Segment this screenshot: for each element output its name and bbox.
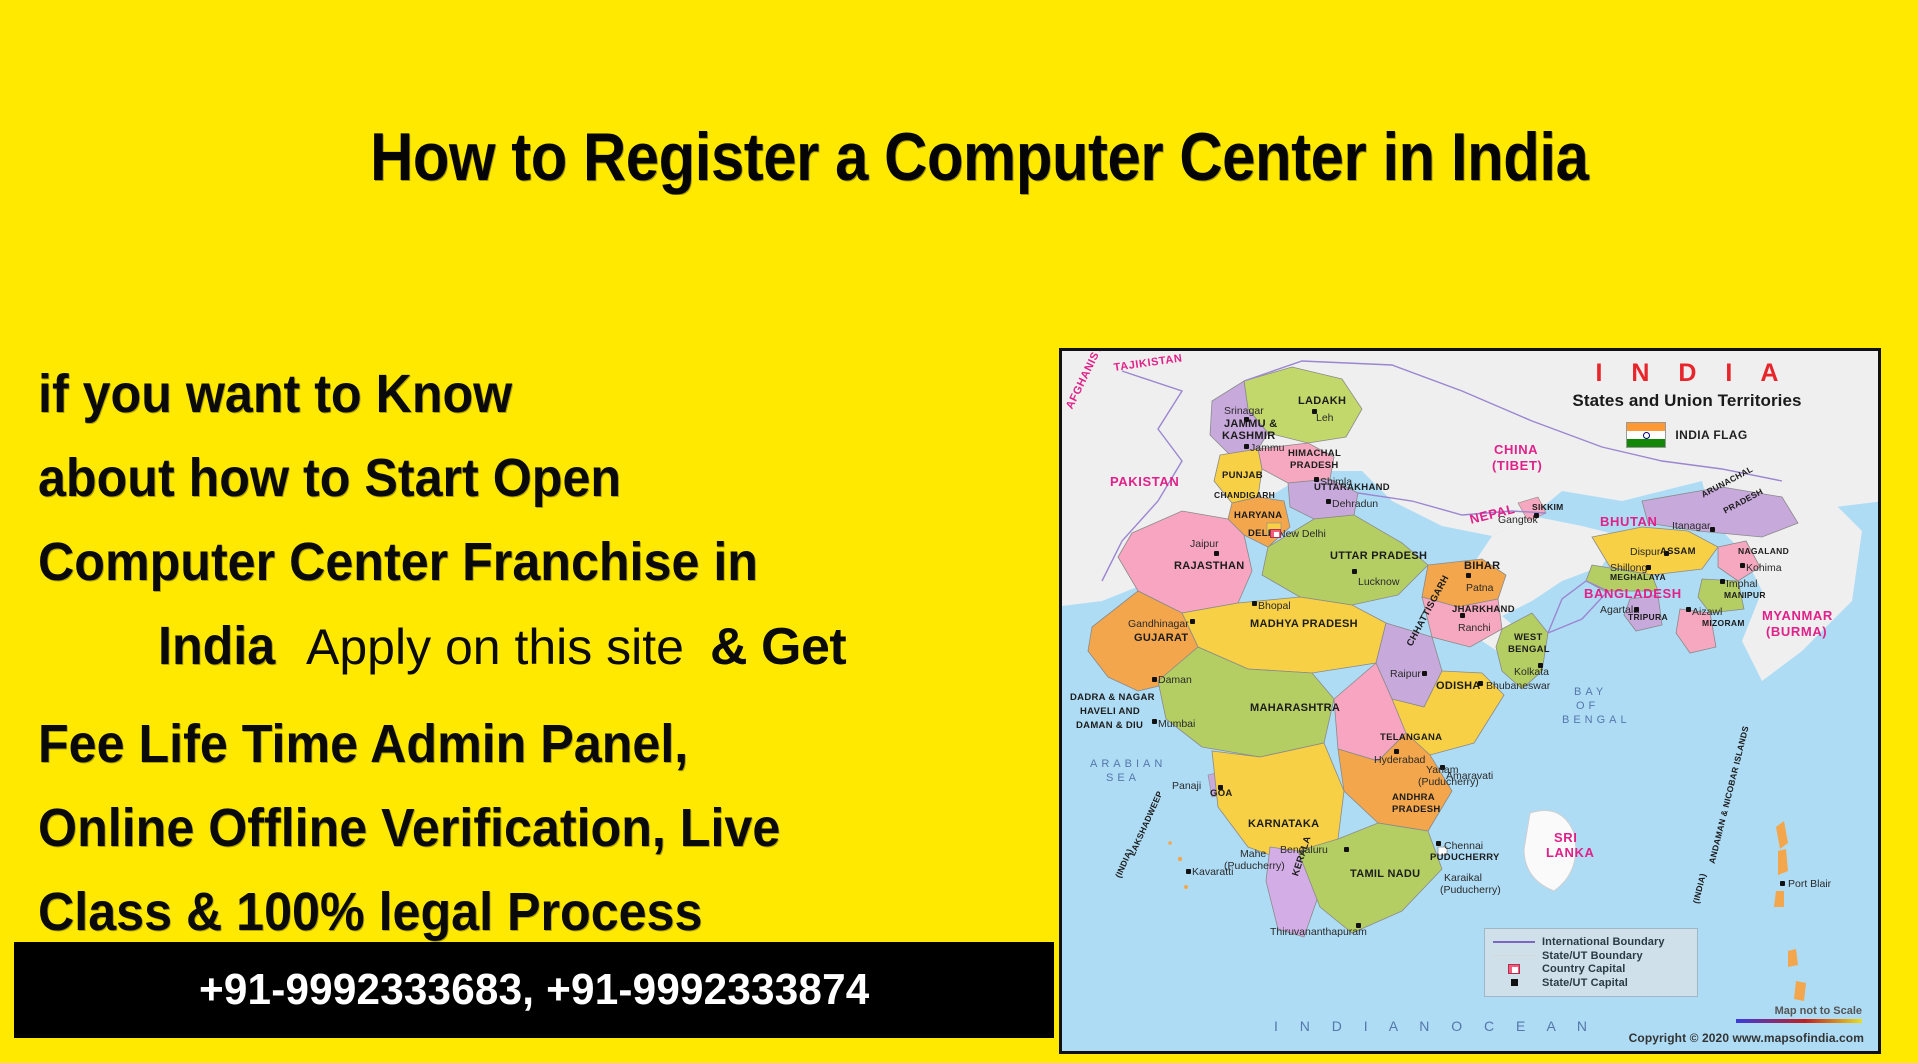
promo-line-4: IndiaApply on this site& Get — [38, 604, 1078, 702]
map-state-label: BENGAL — [1508, 645, 1550, 655]
map-capital-label: (Puducherry) — [1440, 885, 1501, 896]
map-capital-label: Srinagar — [1224, 406, 1264, 417]
map-country-label: MYANMAR — [1762, 609, 1833, 623]
state-capital-marker — [1720, 579, 1725, 584]
map-ocean-label: BAY — [1574, 687, 1607, 699]
promo-india-word: India — [158, 604, 275, 688]
state-capital-marker — [1356, 923, 1361, 928]
map-country-label: LANKA — [1546, 846, 1595, 860]
promo-text-block: if you want to Know about how to Start O… — [38, 352, 1078, 954]
map-state-label: CHANDIGARH — [1214, 491, 1275, 500]
state-capital-marker — [1686, 607, 1691, 612]
state-capital-marker — [1314, 477, 1319, 482]
map-geometry — [1062, 351, 1881, 1054]
map-capital-label: Dispur — [1630, 547, 1660, 558]
india-flag-icon — [1626, 422, 1666, 448]
state-capital-marker — [1152, 719, 1157, 724]
map-title-block: I N D I A States and Union Territories I… — [1522, 359, 1852, 448]
promo-get-word: & Get — [710, 605, 846, 689]
promo-apply-cta[interactable]: Apply on this site — [306, 605, 684, 689]
map-state-label: MIZORAM — [1702, 619, 1745, 628]
map-ocean-label: BENGAL — [1562, 715, 1631, 727]
map-state-label: PUDUCHERRY — [1430, 853, 1500, 863]
promo-line-6: Online Offline Verification, Live — [38, 786, 1005, 870]
map-capital-label: Shimla — [1320, 477, 1352, 488]
map-capital-label: Kohima — [1746, 563, 1782, 574]
map-capital-label: Gangtok — [1498, 515, 1538, 526]
map-capital-label: Gandhinagar — [1128, 619, 1189, 630]
state-capital-icon — [1493, 979, 1535, 986]
map-country-label: CHINA — [1494, 443, 1538, 457]
state-capital-marker — [1538, 663, 1543, 668]
map-state-label: BIHAR — [1464, 561, 1500, 573]
map-capital-label: Mumbai — [1158, 719, 1195, 730]
state-capital-marker — [1478, 681, 1483, 686]
map-capital-label: Kolkata — [1514, 667, 1549, 678]
map-state-label: PRADESH — [1392, 805, 1441, 815]
map-ocean-label: OF — [1576, 701, 1599, 713]
map-state-label: UTTAR PRADESH — [1330, 551, 1427, 563]
legend-row: International Boundary — [1493, 936, 1689, 948]
state-capital-marker — [1152, 677, 1157, 682]
promo-line-2: about how to Start Open — [38, 436, 1005, 520]
page-title-text: How to Register a Computer Center in Ind… — [370, 118, 1588, 196]
international-boundary-icon — [1493, 941, 1535, 943]
map-capital-label: Jaipur — [1190, 539, 1219, 550]
map-capital-label: Mahe — [1240, 849, 1266, 860]
state-capital-marker — [1214, 551, 1219, 556]
flag-label: INDIA FLAG — [1675, 428, 1747, 442]
state-capital-marker — [1780, 881, 1785, 886]
map-ocean-label: ARABIAN — [1090, 759, 1166, 771]
map-state-label: DADRA & NAGAR — [1070, 693, 1155, 703]
promo-line-3: Computer Center Franchise in — [38, 520, 1005, 604]
state-boundary-icon — [1493, 955, 1535, 957]
state-capital-marker — [1244, 444, 1249, 449]
promo-line-5: Fee Life Time Admin Panel, — [38, 702, 1005, 786]
state-capital-marker — [1740, 563, 1745, 568]
map-capital-label: Yanam — [1426, 765, 1459, 776]
legend-label: State/UT Capital — [1542, 977, 1628, 989]
map-capital-label: Ranchi — [1458, 623, 1491, 634]
map-subtitle: States and Union Territories — [1522, 391, 1852, 411]
map-state-label: MANIPUR — [1724, 591, 1766, 600]
map-country-label: SRI — [1554, 831, 1577, 845]
map-capital-label: Dehradun — [1332, 499, 1378, 510]
state-capital-marker — [1344, 847, 1349, 852]
map-capital-label: Imphal — [1726, 579, 1758, 590]
map-country-label: (TIBET) — [1492, 459, 1542, 473]
map-state-label: MEGHALAYA — [1610, 573, 1666, 582]
map-capital-label: Patna — [1466, 583, 1493, 594]
state-capital-marker — [1646, 565, 1651, 570]
legend-label: Country Capital — [1542, 963, 1625, 975]
map-capital-label: Bhubaneswar — [1486, 681, 1550, 692]
map-state-label: MADHYA PRADESH — [1250, 619, 1358, 631]
state-capital-marker — [1534, 513, 1539, 518]
map-capital-label: (Puducherry) — [1418, 777, 1479, 788]
legend-row: State/UT Boundary — [1493, 950, 1689, 962]
map-country-label: BHUTAN — [1600, 515, 1658, 529]
map-state-label: HIMACHAL — [1288, 449, 1341, 459]
map-state-label: GOA — [1210, 789, 1233, 799]
state-capital-marker — [1326, 499, 1331, 504]
map-capital-label: Jammu — [1250, 443, 1284, 454]
map-state-label: WEST — [1514, 633, 1543, 643]
map-capital-label: Leh — [1316, 413, 1334, 424]
scale-note: Map not to Scale — [1775, 1005, 1862, 1017]
state-capital-marker — [1634, 607, 1639, 612]
phone-numbers[interactable]: +91-9992333683, +91-9992333874 — [199, 965, 870, 1015]
state-capital-marker — [1710, 527, 1715, 532]
state-capital-marker — [1244, 417, 1249, 422]
map-state-label: NAGALAND — [1738, 547, 1789, 556]
legend-row: Country Capital — [1493, 963, 1689, 975]
map-state-label: ANDHRA — [1392, 793, 1435, 803]
page-title: How to Register a Computer Center in Ind… — [0, 118, 1918, 196]
promo-line-1: if you want to Know — [38, 352, 1005, 436]
map-capital-label: Shillong — [1610, 563, 1647, 574]
map-capital-label: Hyderabad — [1374, 755, 1425, 766]
page-title-tail: India — [1451, 119, 1588, 195]
map-capital-label: Lucknow — [1358, 577, 1399, 588]
map-state-label: KARNATAKA — [1248, 819, 1319, 831]
page-title-main: How to Register a Computer Center in — [370, 119, 1451, 195]
state-capital-marker — [1218, 785, 1223, 790]
map-capital-label: Bengaluru — [1280, 845, 1328, 856]
state-capital-marker — [1422, 671, 1427, 676]
map-country-label: BANGLADESH — [1584, 587, 1682, 601]
map-copyright: Copyright © 2020 www.mapsofindia.com — [1629, 1031, 1864, 1045]
map-capital-label: Thiruvananthapuram — [1270, 927, 1367, 938]
country-capital-marker — [1270, 529, 1281, 538]
map-state-label: LADAKH — [1298, 396, 1346, 408]
map-state-label: TELANGANA — [1380, 733, 1442, 743]
map-state-label: HAVELI AND — [1080, 707, 1140, 717]
state-capital-marker — [1460, 613, 1465, 618]
map-state-label: DAMAN & DIU — [1076, 721, 1143, 731]
state-capital-marker — [1466, 573, 1471, 578]
map-country-label: (BURMA) — [1766, 625, 1827, 639]
map-state-label: KASHMIR — [1222, 431, 1275, 443]
map-state-label: GUJARAT — [1134, 633, 1188, 645]
map-legend: International Boundary State/UT Boundary… — [1484, 928, 1698, 998]
legend-row: State/UT Capital — [1493, 977, 1689, 989]
map-capital-label: Daman — [1158, 675, 1192, 686]
state-capital-marker — [1190, 619, 1195, 624]
map-state-label: JAMMU & — [1224, 419, 1277, 431]
state-capital-marker — [1394, 749, 1399, 754]
state-capital-marker — [1352, 569, 1357, 574]
map-ocean-label: SEA — [1106, 773, 1140, 785]
state-capital-marker — [1664, 551, 1669, 556]
map-capital-label: New Delhi — [1278, 529, 1326, 540]
map-state-label: SIKKIM — [1532, 503, 1564, 512]
map-capital-label: Chennai — [1444, 841, 1483, 852]
state-capital-marker — [1186, 869, 1191, 874]
map-capital-label: Port Blair — [1788, 879, 1831, 890]
map-capital-label: Itanagar — [1672, 521, 1711, 532]
state-capital-marker — [1252, 601, 1257, 606]
map-title: I N D I A — [1522, 359, 1852, 388]
contact-phone-bar[interactable]: +91-9992333683, +91-9992333874 — [14, 942, 1054, 1038]
map-state-label: ODISHA — [1436, 681, 1481, 693]
state-capital-marker — [1312, 409, 1317, 414]
state-capital-marker — [1436, 841, 1441, 846]
map-state-label: TAMIL NADU — [1350, 869, 1420, 881]
map-capital-label: Bhopal — [1258, 601, 1291, 612]
map-flag-row: INDIA FLAG — [1522, 422, 1852, 448]
scale-bar-icon — [1736, 1019, 1862, 1023]
legend-label: State/UT Boundary — [1542, 950, 1643, 962]
map-state-label: HARYANA — [1234, 511, 1282, 521]
map-capital-label: Raipur — [1390, 669, 1421, 680]
map-state-label: PUNJAB — [1222, 471, 1263, 481]
map-capital-label: (Puducherry) — [1224, 861, 1285, 872]
map-state-label: RAJASTHAN — [1174, 561, 1245, 573]
map-country-label: PAKISTAN — [1110, 475, 1179, 489]
india-map-image: I N D I A States and Union Territories I… — [1059, 348, 1881, 1054]
map-ocean-label: I N D I A N O C E A N — [1274, 1019, 1596, 1034]
map-capital-label: Aizawl — [1692, 607, 1722, 618]
map-state-label: MAHARASHTRA — [1250, 703, 1340, 715]
country-capital-icon — [1493, 964, 1535, 974]
map-state-label: PRADESH — [1290, 461, 1339, 471]
map-capital-label: Karaikal — [1444, 873, 1482, 884]
legend-label: International Boundary — [1542, 936, 1665, 948]
map-capital-label: Panaji — [1172, 781, 1201, 792]
